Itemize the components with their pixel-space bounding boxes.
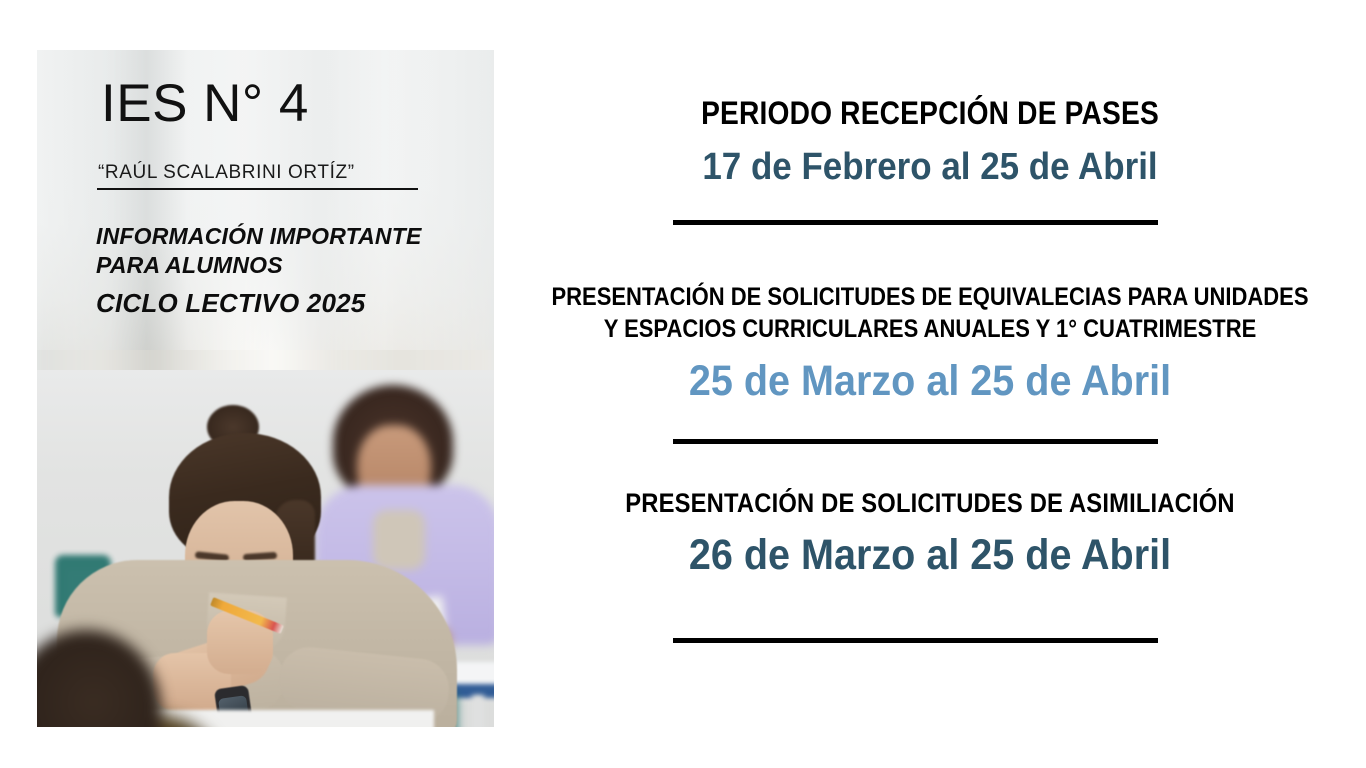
announcement-heading-equivalencias-line-2: Y ESPACIOS CURRICULARES ANUALES Y 1° CUA… (546, 313, 1313, 345)
divider-rule-3 (673, 638, 1158, 643)
announcement-heading-equivalencias: PRESENTACIÓN DE SOLICITUDES DE EQUIVALEC… (546, 281, 1313, 345)
important-info-label: INFORMACIÓN IMPORTANTE PARA ALUMNOS (96, 222, 422, 281)
announcement-block-asimilacion: PRESENTACIÓN DE SOLICITUDES DE ASIMILIAC… (494, 487, 1366, 581)
important-info-line-1: INFORMACIÓN IMPORTANTE (96, 222, 422, 251)
photo-desk-right-leg (472, 695, 484, 727)
announcement-date-equivalencias: 25 de Marzo al 25 de Abril (529, 357, 1331, 406)
divider-rule-1 (673, 220, 1158, 225)
important-info-line-2: PARA ALUMNOS (96, 251, 422, 280)
divider-rule-2 (673, 439, 1158, 444)
institution-subtitle: “RAÚL SCALABRINI ORTÍZ” (98, 162, 355, 184)
institution-photo-card: IES N° 4 “RAÚL SCALABRINI ORTÍZ” INFORMA… (37, 50, 494, 727)
announcement-heading-asimilacion: PRESENTACIÓN DE SOLICITUDES DE ASIMILIAC… (546, 487, 1313, 519)
slide-canvas: IES N° 4 “RAÚL SCALABRINI ORTÍZ” INFORMA… (0, 0, 1366, 768)
announcement-block-pases: PERIODO RECEPCIÓN DE PASES 17 de Febrero… (494, 94, 1366, 190)
classroom-photo (37, 50, 494, 727)
announcements-panel: PERIODO RECEPCIÓN DE PASES 17 de Febrero… (494, 0, 1366, 768)
announcement-date-asimilacion: 26 de Marzo al 25 de Abril (529, 531, 1331, 580)
announcement-heading-pases: PERIODO RECEPCIÓN DE PASES (546, 94, 1313, 132)
announcement-heading-equivalencias-line-1: PRESENTACIÓN DE SOLICITUDES DE EQUIVALEC… (546, 281, 1313, 313)
institution-name: IES N° 4 (101, 77, 309, 130)
institution-underline (97, 188, 418, 190)
announcement-block-equivalencias: PRESENTACIÓN DE SOLICITUDES DE EQUIVALEC… (494, 281, 1366, 406)
announcement-date-pases: 17 de Febrero al 25 de Abril (529, 146, 1331, 190)
school-year-label: CICLO LECTIVO 2025 (96, 288, 365, 319)
